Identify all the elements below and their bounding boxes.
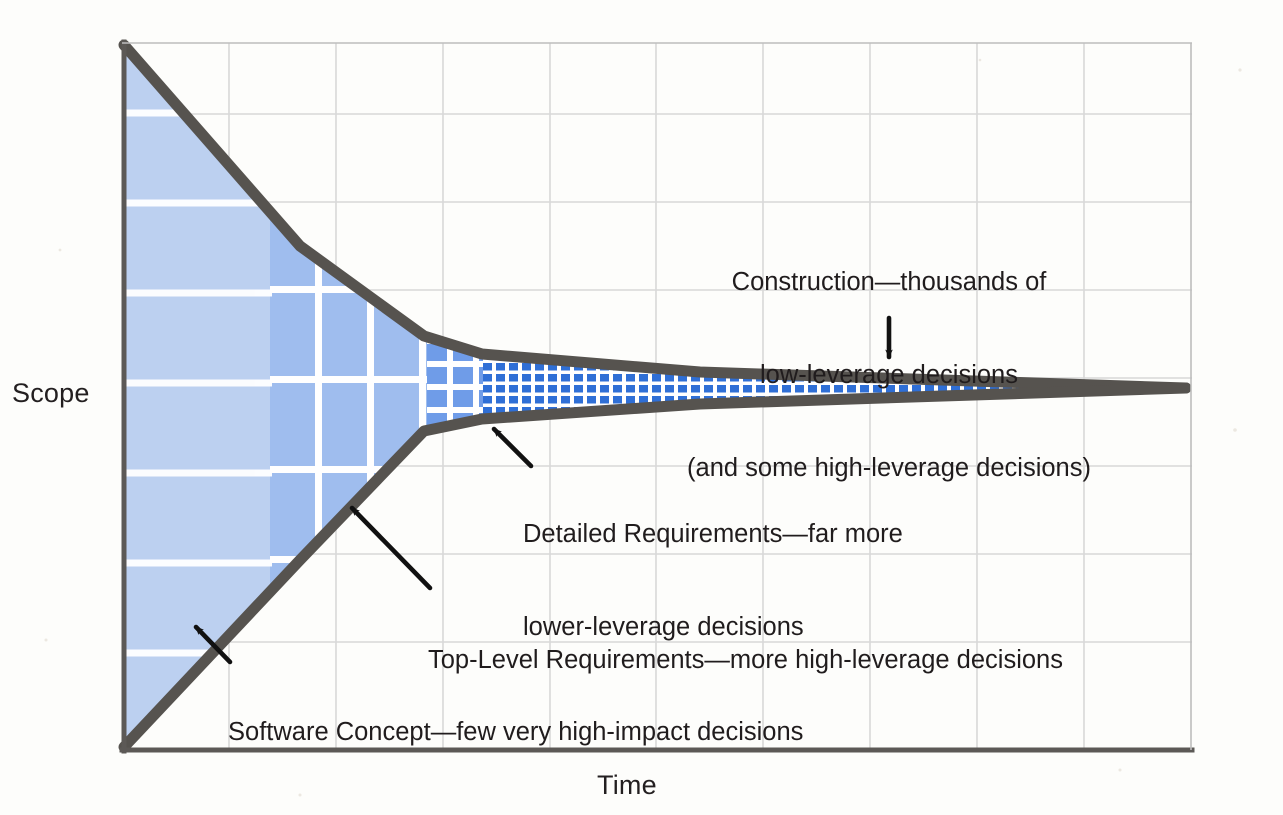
annotation-software-concept: Software Concept—few very high-impact de… — [228, 655, 803, 779]
annotation-construction-line-2: low-leverage decisions — [687, 360, 1091, 391]
annotation-construction-line-1: Construction—thousands of — [687, 267, 1091, 298]
annotation-software-concept-line-1: Software Concept—few very high-impact de… — [228, 717, 803, 748]
y-axis-label: Scope — [12, 378, 90, 409]
annotation-detailed-requirements-line-1: Detailed Requirements—far more — [523, 519, 903, 550]
